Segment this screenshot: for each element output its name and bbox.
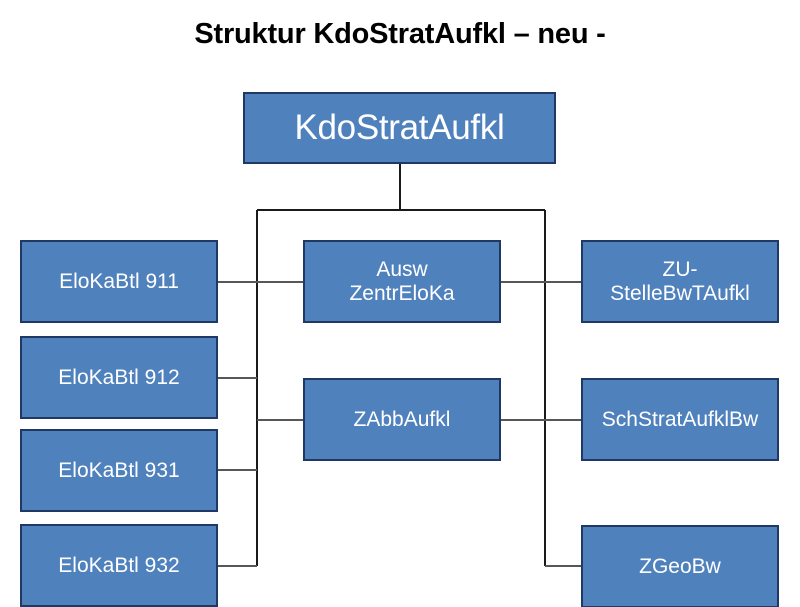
node-elokabtl-931[interactable]: EloKaBtl 931 [20, 429, 218, 512]
node-elokabtl-932[interactable]: EloKaBtl 932 [20, 524, 218, 607]
node-elokabtl-912[interactable]: EloKaBtl 912 [20, 336, 218, 419]
node-label: ZU- StelleBwTAufkl [583, 258, 777, 305]
node-label: EloKaBtl 912 [22, 366, 216, 390]
org-chart-canvas: Struktur KdoStratAufkl – neu - KdoStratA… [0, 0, 800, 607]
node-label: KdoStratAufkl [245, 108, 554, 147]
node-elokabtl-911[interactable]: EloKaBtl 911 [20, 240, 218, 323]
node-schstrataufklbw[interactable]: SchStratAufklBw [581, 378, 779, 461]
node-label: EloKaBtl 932 [22, 554, 216, 578]
node-label: EloKaBtl 911 [22, 270, 216, 294]
node-label: ZGeoBw [583, 555, 777, 579]
node-label: SchStratAufklBw [583, 408, 777, 432]
node-zabbaufkl[interactable]: ZAbbAufkl [303, 378, 501, 461]
node-zu-stellebwtaufkl[interactable]: ZU- StelleBwTAufkl [581, 240, 779, 323]
node-ausw-zentreloka[interactable]: Ausw ZentrEloKa [303, 240, 501, 323]
node-label: EloKaBtl 931 [22, 459, 216, 483]
node-label: Ausw ZentrEloKa [305, 258, 499, 305]
node-kdostrataufkl[interactable]: KdoStratAufkl [243, 92, 556, 164]
node-zgeobw[interactable]: ZGeoBw [581, 525, 779, 607]
node-label: ZAbbAufkl [305, 408, 499, 432]
